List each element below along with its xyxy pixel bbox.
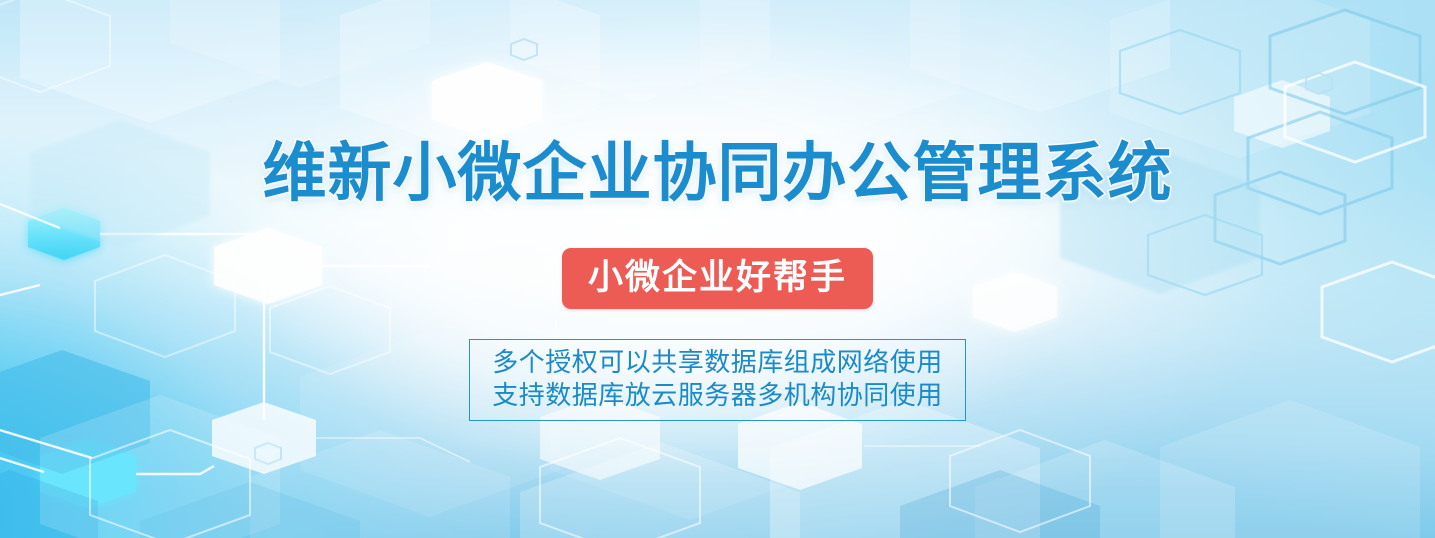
feature-line-1: 多个授权可以共享数据库组成网络使用 <box>492 346 943 379</box>
tagline-badge: 小微企业好帮手 <box>562 248 873 309</box>
feature-info-box: 多个授权可以共享数据库组成网络使用 支持数据库放云服务器多机构协同使用 <box>469 339 966 421</box>
page-title: 维新小微企业协同办公管理系统 <box>263 140 1173 206</box>
feature-line-2: 支持数据库放云服务器多机构协同使用 <box>492 379 943 412</box>
banner-content: 维新小微企业协同办公管理系统 小微企业好帮手 多个授权可以共享数据库组成网络使用… <box>0 0 1435 538</box>
promo-banner: 维新小微企业协同办公管理系统 小微企业好帮手 多个授权可以共享数据库组成网络使用… <box>0 0 1435 538</box>
